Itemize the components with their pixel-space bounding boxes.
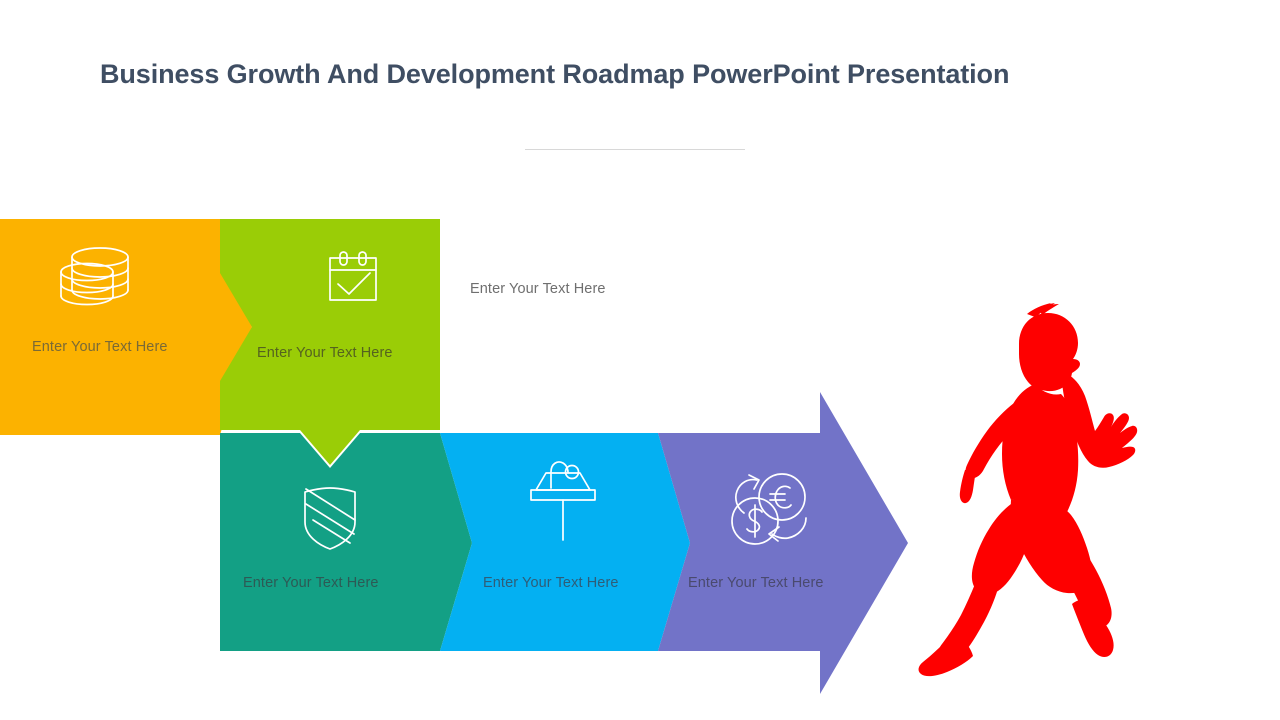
running-person-silhouette	[915, 300, 1140, 685]
step-3-block[interactable]	[220, 433, 472, 651]
step-2-shape-green[interactable]	[220, 219, 440, 465]
step-4-label[interactable]: Enter Your Text Here	[483, 575, 619, 591]
slide-canvas: Business Growth And Development Roadmap …	[0, 0, 1280, 720]
step-3-shape-teal[interactable]	[220, 433, 472, 651]
step-4-shape-blue[interactable]	[440, 433, 690, 651]
runner-svg	[915, 300, 1140, 685]
step-1-block[interactable]	[0, 219, 252, 435]
step-5-block[interactable]	[658, 392, 908, 694]
step-5-shape-purple[interactable]	[658, 392, 908, 694]
floating-text-label[interactable]: Enter Your Text Here	[470, 281, 606, 297]
step-2-label[interactable]: Enter Your Text Here	[257, 345, 393, 361]
step-1-shape-orange[interactable]	[0, 219, 252, 435]
step-5-label[interactable]: Enter Your Text Here	[688, 575, 824, 591]
step-2-block[interactable]	[220, 219, 440, 465]
step-1-label[interactable]: Enter Your Text Here	[32, 339, 168, 355]
step-3-label[interactable]: Enter Your Text Here	[243, 575, 379, 591]
